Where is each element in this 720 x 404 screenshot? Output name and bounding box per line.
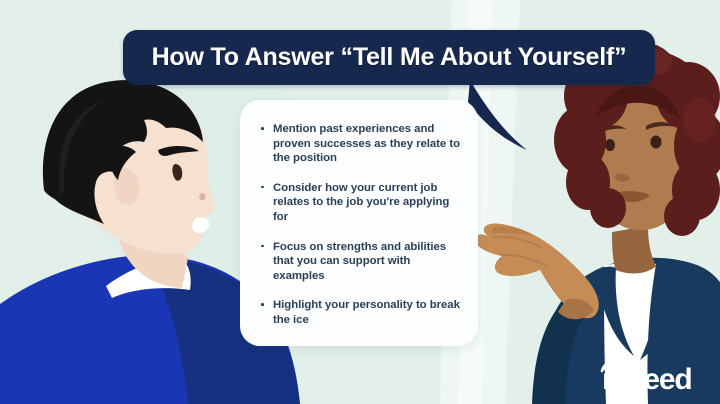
title-speech-bubble: How To Answer “Tell Me About Yourself”	[123, 30, 655, 85]
bullet-dot-icon	[261, 303, 264, 306]
bullet-dot-icon	[261, 245, 264, 248]
page-title: How To Answer “Tell Me About Yourself”	[152, 43, 627, 72]
woman-hand	[475, 224, 599, 320]
bullet-dot-icon	[261, 186, 264, 189]
woman-eye-right	[651, 136, 662, 149]
list-item-text: Consider how your current job relates to…	[273, 182, 449, 223]
indeed-wordmark: indeed	[602, 363, 691, 394]
list-item-text: Mention past experiences and proven succ…	[273, 123, 460, 164]
indeed-logo: indeed	[600, 358, 706, 394]
man-mouth	[192, 217, 209, 233]
list-item-text: Focus on strengths and abilities that yo…	[273, 241, 446, 282]
tips-list: Mention past experiences and proven succ…	[261, 122, 460, 328]
list-item: Highlight your personality to break the …	[261, 298, 460, 327]
list-item: Mention past experiences and proven succ…	[261, 122, 460, 166]
woman-neck	[612, 226, 656, 273]
woman-figure	[475, 42, 720, 404]
bullet-dot-icon	[261, 127, 264, 130]
list-item: Focus on strengths and abilities that yo…	[261, 240, 460, 284]
list-item-text: Highlight your personality to break the …	[273, 299, 460, 326]
tips-card: Mention past experiences and proven succ…	[240, 100, 478, 346]
illustration-stage: How To Answer “Tell Me About Yourself” M…	[0, 0, 720, 404]
list-item: Consider how your current job relates to…	[261, 181, 460, 225]
woman-eye-left	[605, 139, 615, 151]
